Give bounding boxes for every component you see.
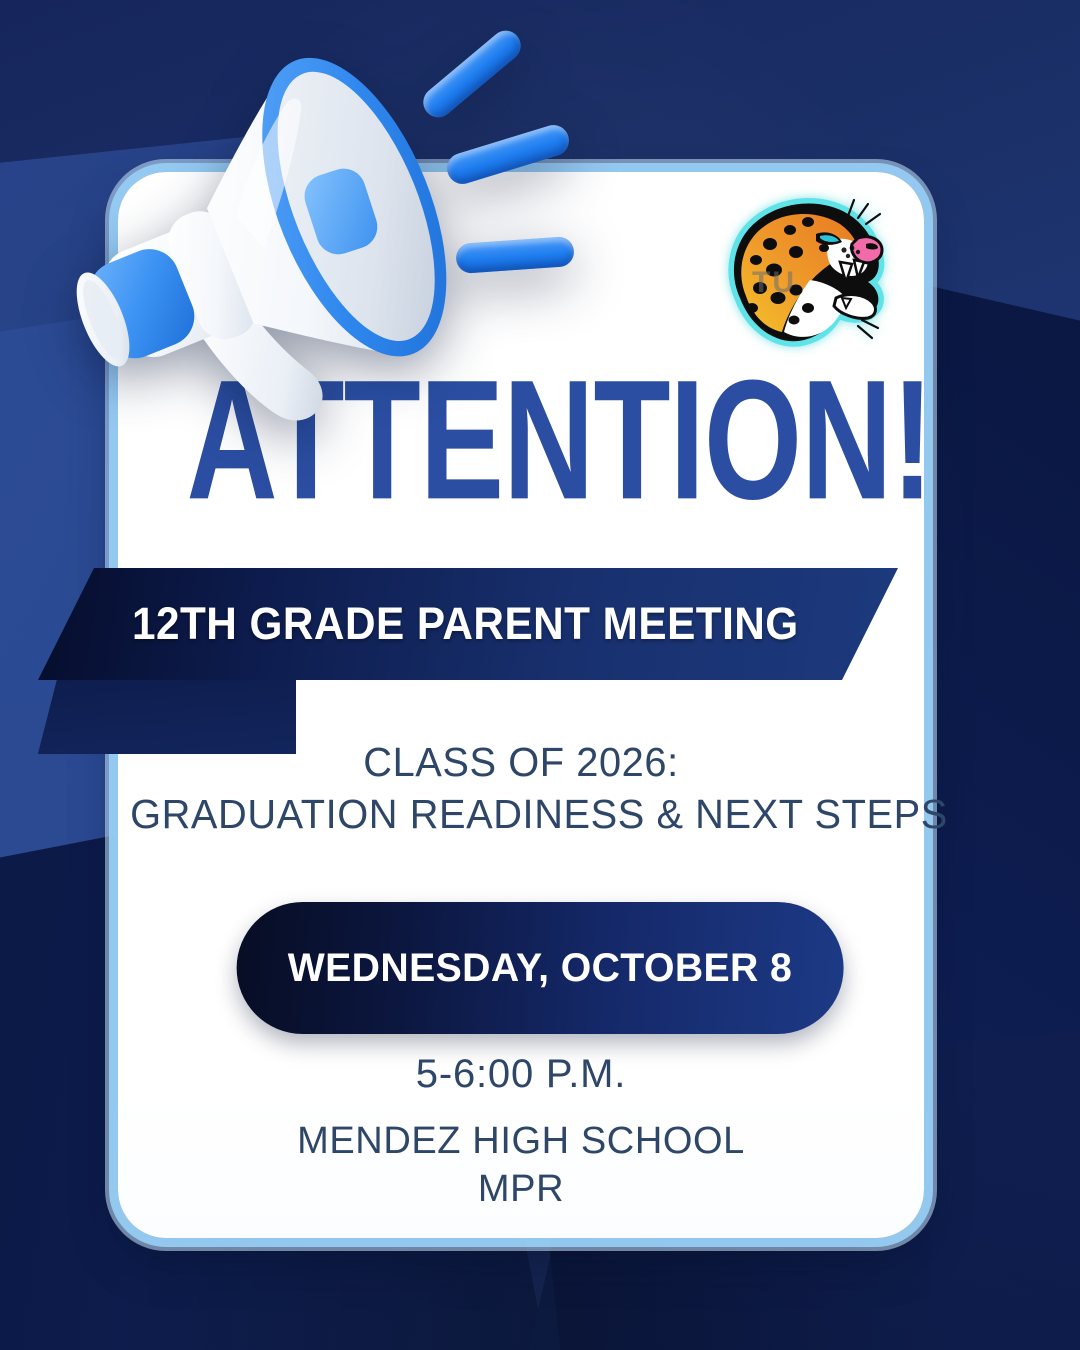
subtitle: CLASS OF 2026: GRADUATION READINESS & NE… — [130, 736, 912, 840]
event-venue: MENDEZ HIGH SCHOOL MPR — [118, 1118, 924, 1213]
date-badge: WEDNESDAY, OCTOBER 8 — [237, 902, 844, 1034]
jaguar-head-graphic — [712, 186, 892, 364]
jaguar-tongue — [851, 237, 882, 263]
date-badge-label: WEDNESDAY, OCTOBER 8 — [243, 946, 838, 991]
banner-label: 12TH GRADE PARENT MEETING — [132, 598, 799, 650]
banner-body: 12TH GRADE PARENT MEETING — [38, 568, 898, 680]
venue-line-2: MPR — [118, 1166, 924, 1214]
subtitle-line-1: CLASS OF 2026: — [130, 736, 912, 788]
subtitle-line-2: GRADUATION READINESS & NEXT STEPS — [130, 788, 912, 840]
event-time: 5-6:00 P.M. — [118, 1052, 924, 1097]
megaphone-graphic — [18, 34, 448, 474]
megaphone-icon — [18, 34, 448, 474]
jaguar-mascot-logo: TU — [712, 186, 892, 364]
banner: 12TH GRADE PARENT MEETING — [38, 568, 898, 678]
venue-line-1: MENDEZ HIGH SCHOOL — [118, 1118, 924, 1166]
flyer-canvas: ATTENTION! 12TH GRADE PARENT MEETING CLA… — [0, 0, 1080, 1350]
